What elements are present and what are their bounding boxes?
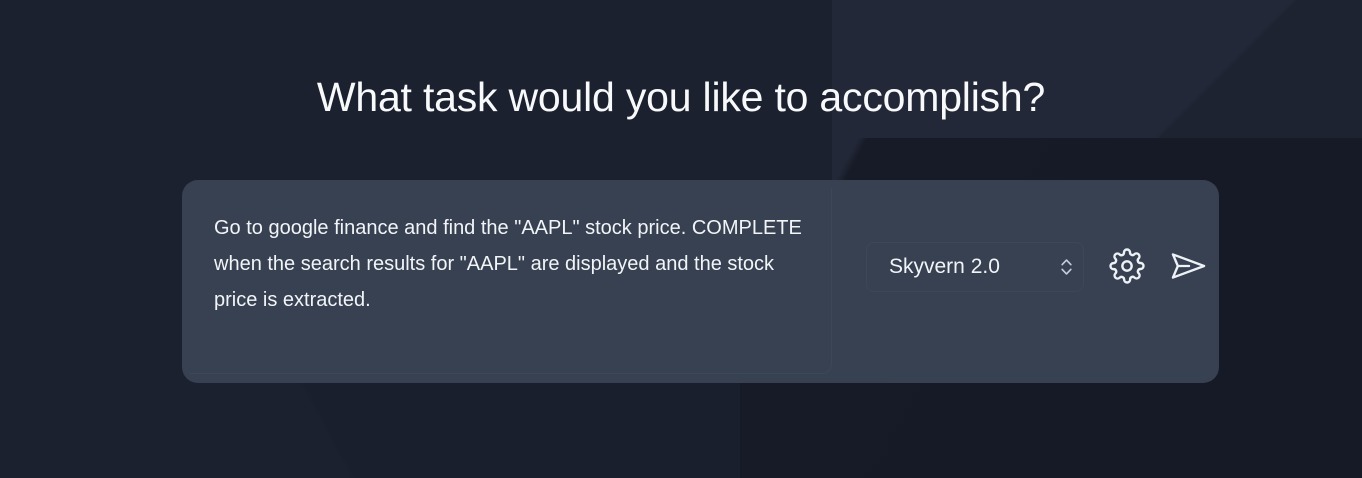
- page-root: What task would you like to accomplish? …: [0, 0, 1362, 478]
- prompt-card: Skyvern 2.0: [182, 180, 1219, 383]
- prompt-card-controls: Skyvern 2.0: [866, 242, 1208, 292]
- gear-icon: [1109, 248, 1145, 287]
- settings-button[interactable]: [1106, 246, 1148, 288]
- send-icon: [1165, 245, 1209, 290]
- model-select[interactable]: Skyvern 2.0: [866, 242, 1084, 292]
- page-title: What task would you like to accomplish?: [0, 74, 1362, 121]
- chevron-up-down-icon: [1049, 255, 1083, 279]
- task-input[interactable]: [190, 188, 832, 374]
- send-button[interactable]: [1166, 246, 1208, 288]
- model-select-value: Skyvern 2.0: [867, 255, 1049, 279]
